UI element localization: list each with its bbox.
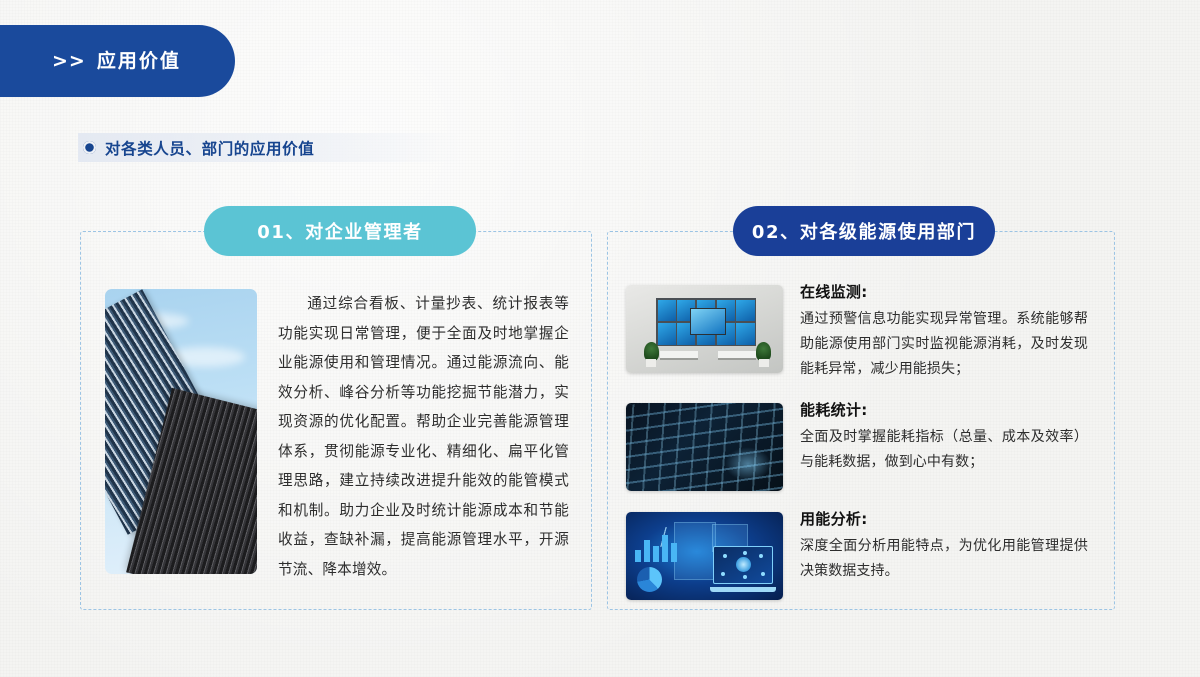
card-1-body: 通过综合看板、计量抄表、统计报表等功能实现日常管理，便于全面及时地掌握企业能源使… — [81, 232, 591, 609]
section-header-banner: >> 应用价值 — [0, 25, 235, 97]
section-subtitle: 对各类人员、部门的应用价值 — [78, 133, 464, 162]
laptop-shape — [710, 546, 776, 592]
feature-description: 通过预警信息功能实现异常管理。系统能够帮助能源使用部门实时监视能源消耗，及时发现… — [800, 307, 1088, 382]
value-card-energy-departments: 02、对各级能源使用部门 在线监测: 通过预警信息功能实现异常管理。系统能够帮助… — [607, 231, 1115, 610]
feature-title: 在线监测: — [800, 282, 1088, 302]
feature-description: 深度全面分析用能特点，为优化用能管理提供决策数据支持。 — [800, 534, 1088, 584]
feature-title: 用能分析: — [800, 509, 1088, 529]
page-title: 应用价值 — [97, 52, 181, 71]
control-room-photo — [626, 285, 783, 373]
card-1-title-pill: 01、对企业管理者 — [204, 206, 476, 256]
feature-text: 在线监测: 通过预警信息功能实现异常管理。系统能够帮助能源使用部门实时监视能源消… — [800, 282, 1088, 382]
card-2-body: 在线监测: 通过预警信息功能实现异常管理。系统能够帮助能源使用部门实时监视能源消… — [608, 232, 1114, 609]
value-card-enterprise-manager: 01、对企业管理者 通过综合看板、计量抄表、统计报表等功能实现日常管理，便于全面… — [80, 231, 592, 610]
feature-row: 用能分析: 深度全面分析用能特点，为优化用能管理提供决策数据支持。 — [626, 509, 1088, 600]
section-subtitle-label: 对各类人员、部门的应用价值 — [105, 137, 314, 159]
chevron-double-right-icon: >> — [52, 52, 86, 71]
feature-title: 能耗统计: — [800, 400, 1088, 420]
feature-description: 全面及时掌握能耗指标（总量、成本及效率）与能耗数据，做到心中有数； — [800, 425, 1088, 475]
card-1-paragraph: 通过综合看板、计量抄表、统计报表等功能实现日常管理，便于全面及时地掌握企业能源使… — [278, 289, 569, 589]
feature-text: 能耗统计: 全面及时掌握能耗指标（总量、成本及效率）与能耗数据，做到心中有数； — [800, 400, 1088, 475]
feature-text: 用能分析: 深度全面分析用能特点，为优化用能管理提供决策数据支持。 — [800, 509, 1088, 584]
bar-chart-shape — [635, 534, 677, 562]
bullseye-icon — [83, 141, 96, 154]
feature-row: 在线监测: 通过预警信息功能实现异常管理。系统能够帮助能源使用部门实时监视能源消… — [626, 282, 1088, 382]
pie-chart-shape — [637, 567, 662, 592]
skyscrapers-photo — [105, 289, 257, 574]
backlit-keyboard-photo — [626, 403, 783, 491]
feature-row: 能耗统计: 全面及时掌握能耗指标（总量、成本及效率）与能耗数据，做到心中有数； — [626, 400, 1088, 491]
card-2-title-pill: 02、对各级能源使用部门 — [733, 206, 995, 256]
data-analytics-photo — [626, 512, 783, 600]
